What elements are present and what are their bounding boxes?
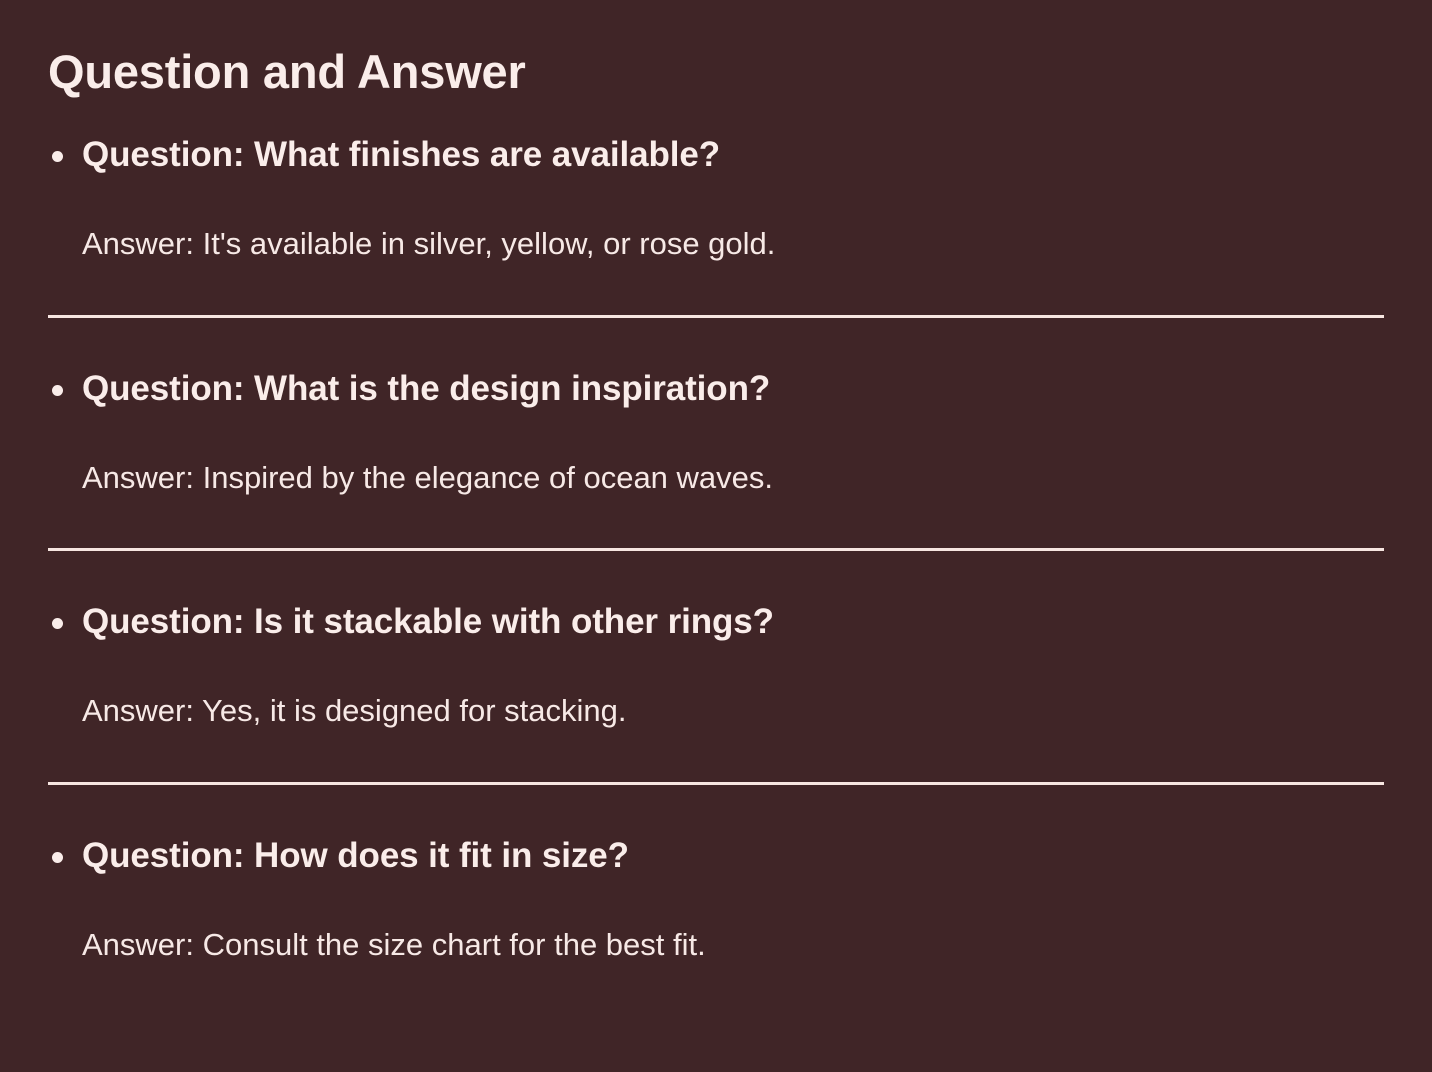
qa-answer: Answer: Consult the size chart for the b… (82, 878, 1384, 965)
qa-question: Question: What is the design inspiration… (82, 367, 1384, 411)
qa-entry: Question: What finishes are available? A… (48, 133, 1384, 367)
page-title: Question and Answer (48, 0, 1384, 99)
bullet-icon (52, 852, 63, 863)
bullet-icon (52, 618, 63, 629)
bullet-icon (52, 151, 63, 162)
qa-spacer (48, 318, 1384, 367)
qa-answer: Answer: It's available in silver, yellow… (82, 177, 1384, 264)
qa-entry: Question: How does it fit in size? Answe… (48, 834, 1384, 965)
qa-page: Question and Answer Question: What finis… (0, 0, 1432, 1072)
qa-item: Question: How does it fit in size? Answe… (48, 834, 1384, 965)
qa-list: Question: What finishes are available? A… (48, 99, 1384, 964)
qa-entry: Question: What is the design inspiration… (48, 367, 1384, 601)
qa-spacer (48, 551, 1384, 600)
qa-item: Question: What is the design inspiration… (48, 367, 1384, 498)
qa-answer: Answer: Yes, it is designed for stacking… (82, 644, 1384, 731)
qa-answer: Answer: Inspired by the elegance of ocea… (82, 411, 1384, 498)
qa-item: Question: What finishes are available? A… (48, 133, 1384, 264)
qa-spacer (48, 785, 1384, 834)
qa-question: Question: Is it stackable with other rin… (82, 600, 1384, 644)
qa-entry: Question: Is it stackable with other rin… (48, 600, 1384, 834)
bullet-icon (52, 385, 63, 396)
qa-question: Question: What finishes are available? (82, 133, 1384, 177)
qa-item: Question: Is it stackable with other rin… (48, 600, 1384, 731)
qa-question: Question: How does it fit in size? (82, 834, 1384, 878)
